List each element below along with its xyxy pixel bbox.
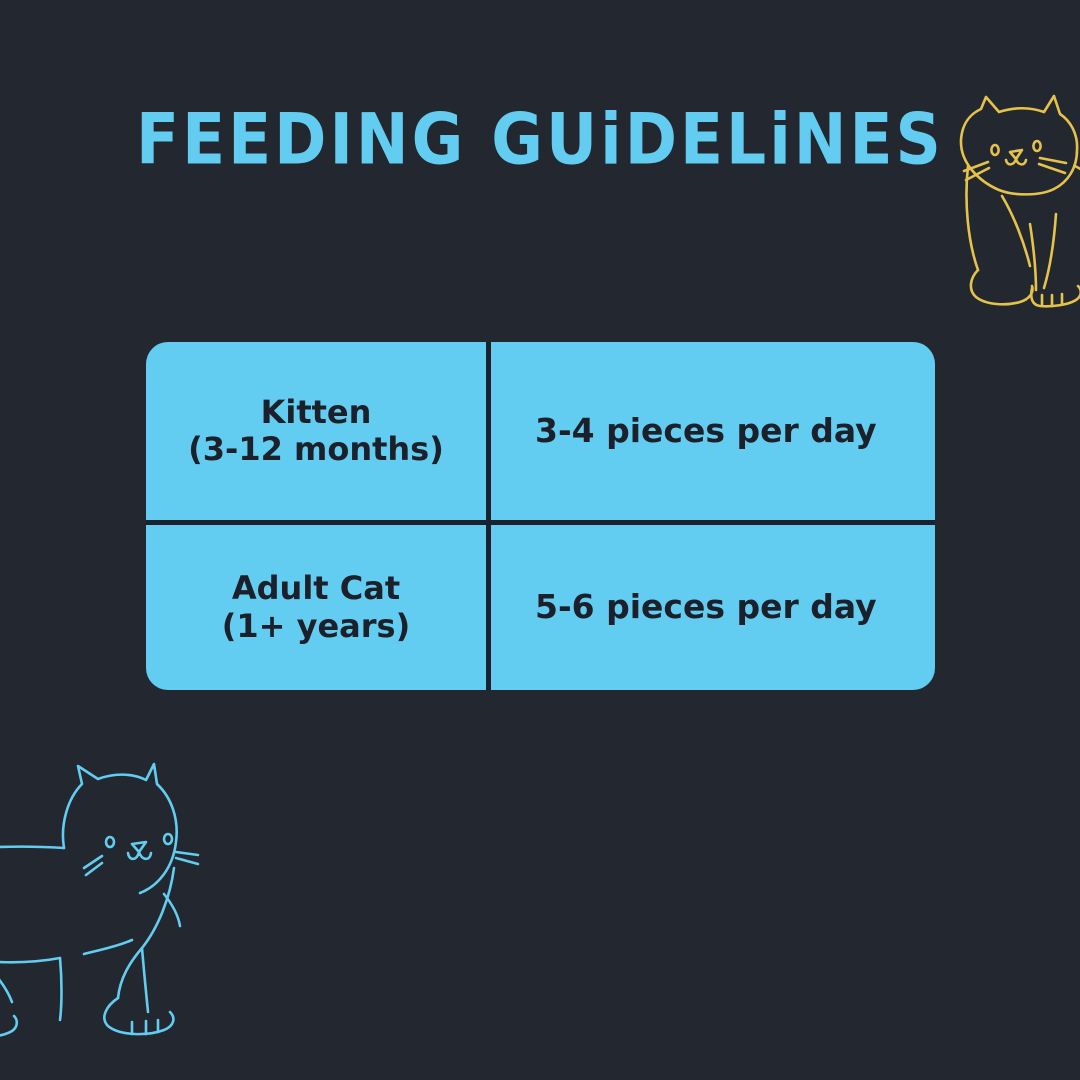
adult-label-line1: Adult Cat: [222, 570, 410, 607]
adult-label-line2: (1+ years): [222, 608, 410, 645]
kitten-label-line2: (3-12 months): [188, 431, 444, 468]
page-title: FEEDING GUiDELiNES: [0, 104, 1080, 175]
table-row-kitten-label: Kitten (3-12 months): [146, 342, 486, 520]
table-row-adult-label: Adult Cat (1+ years): [146, 525, 486, 690]
kitten-label-line1: Kitten: [188, 394, 444, 431]
feeding-guidelines-table: Kitten (3-12 months) 3-4 pieces per day …: [146, 342, 935, 690]
table-row-adult-value: 5-6 pieces per day: [491, 525, 935, 690]
table-row-kitten-value: 3-4 pieces per day: [491, 342, 935, 520]
walking-cat-icon: [0, 748, 226, 1040]
feeding-guidelines-graphic: FEEDING GUiDELiNES Kitten (3-12 months) …: [0, 0, 1080, 1080]
